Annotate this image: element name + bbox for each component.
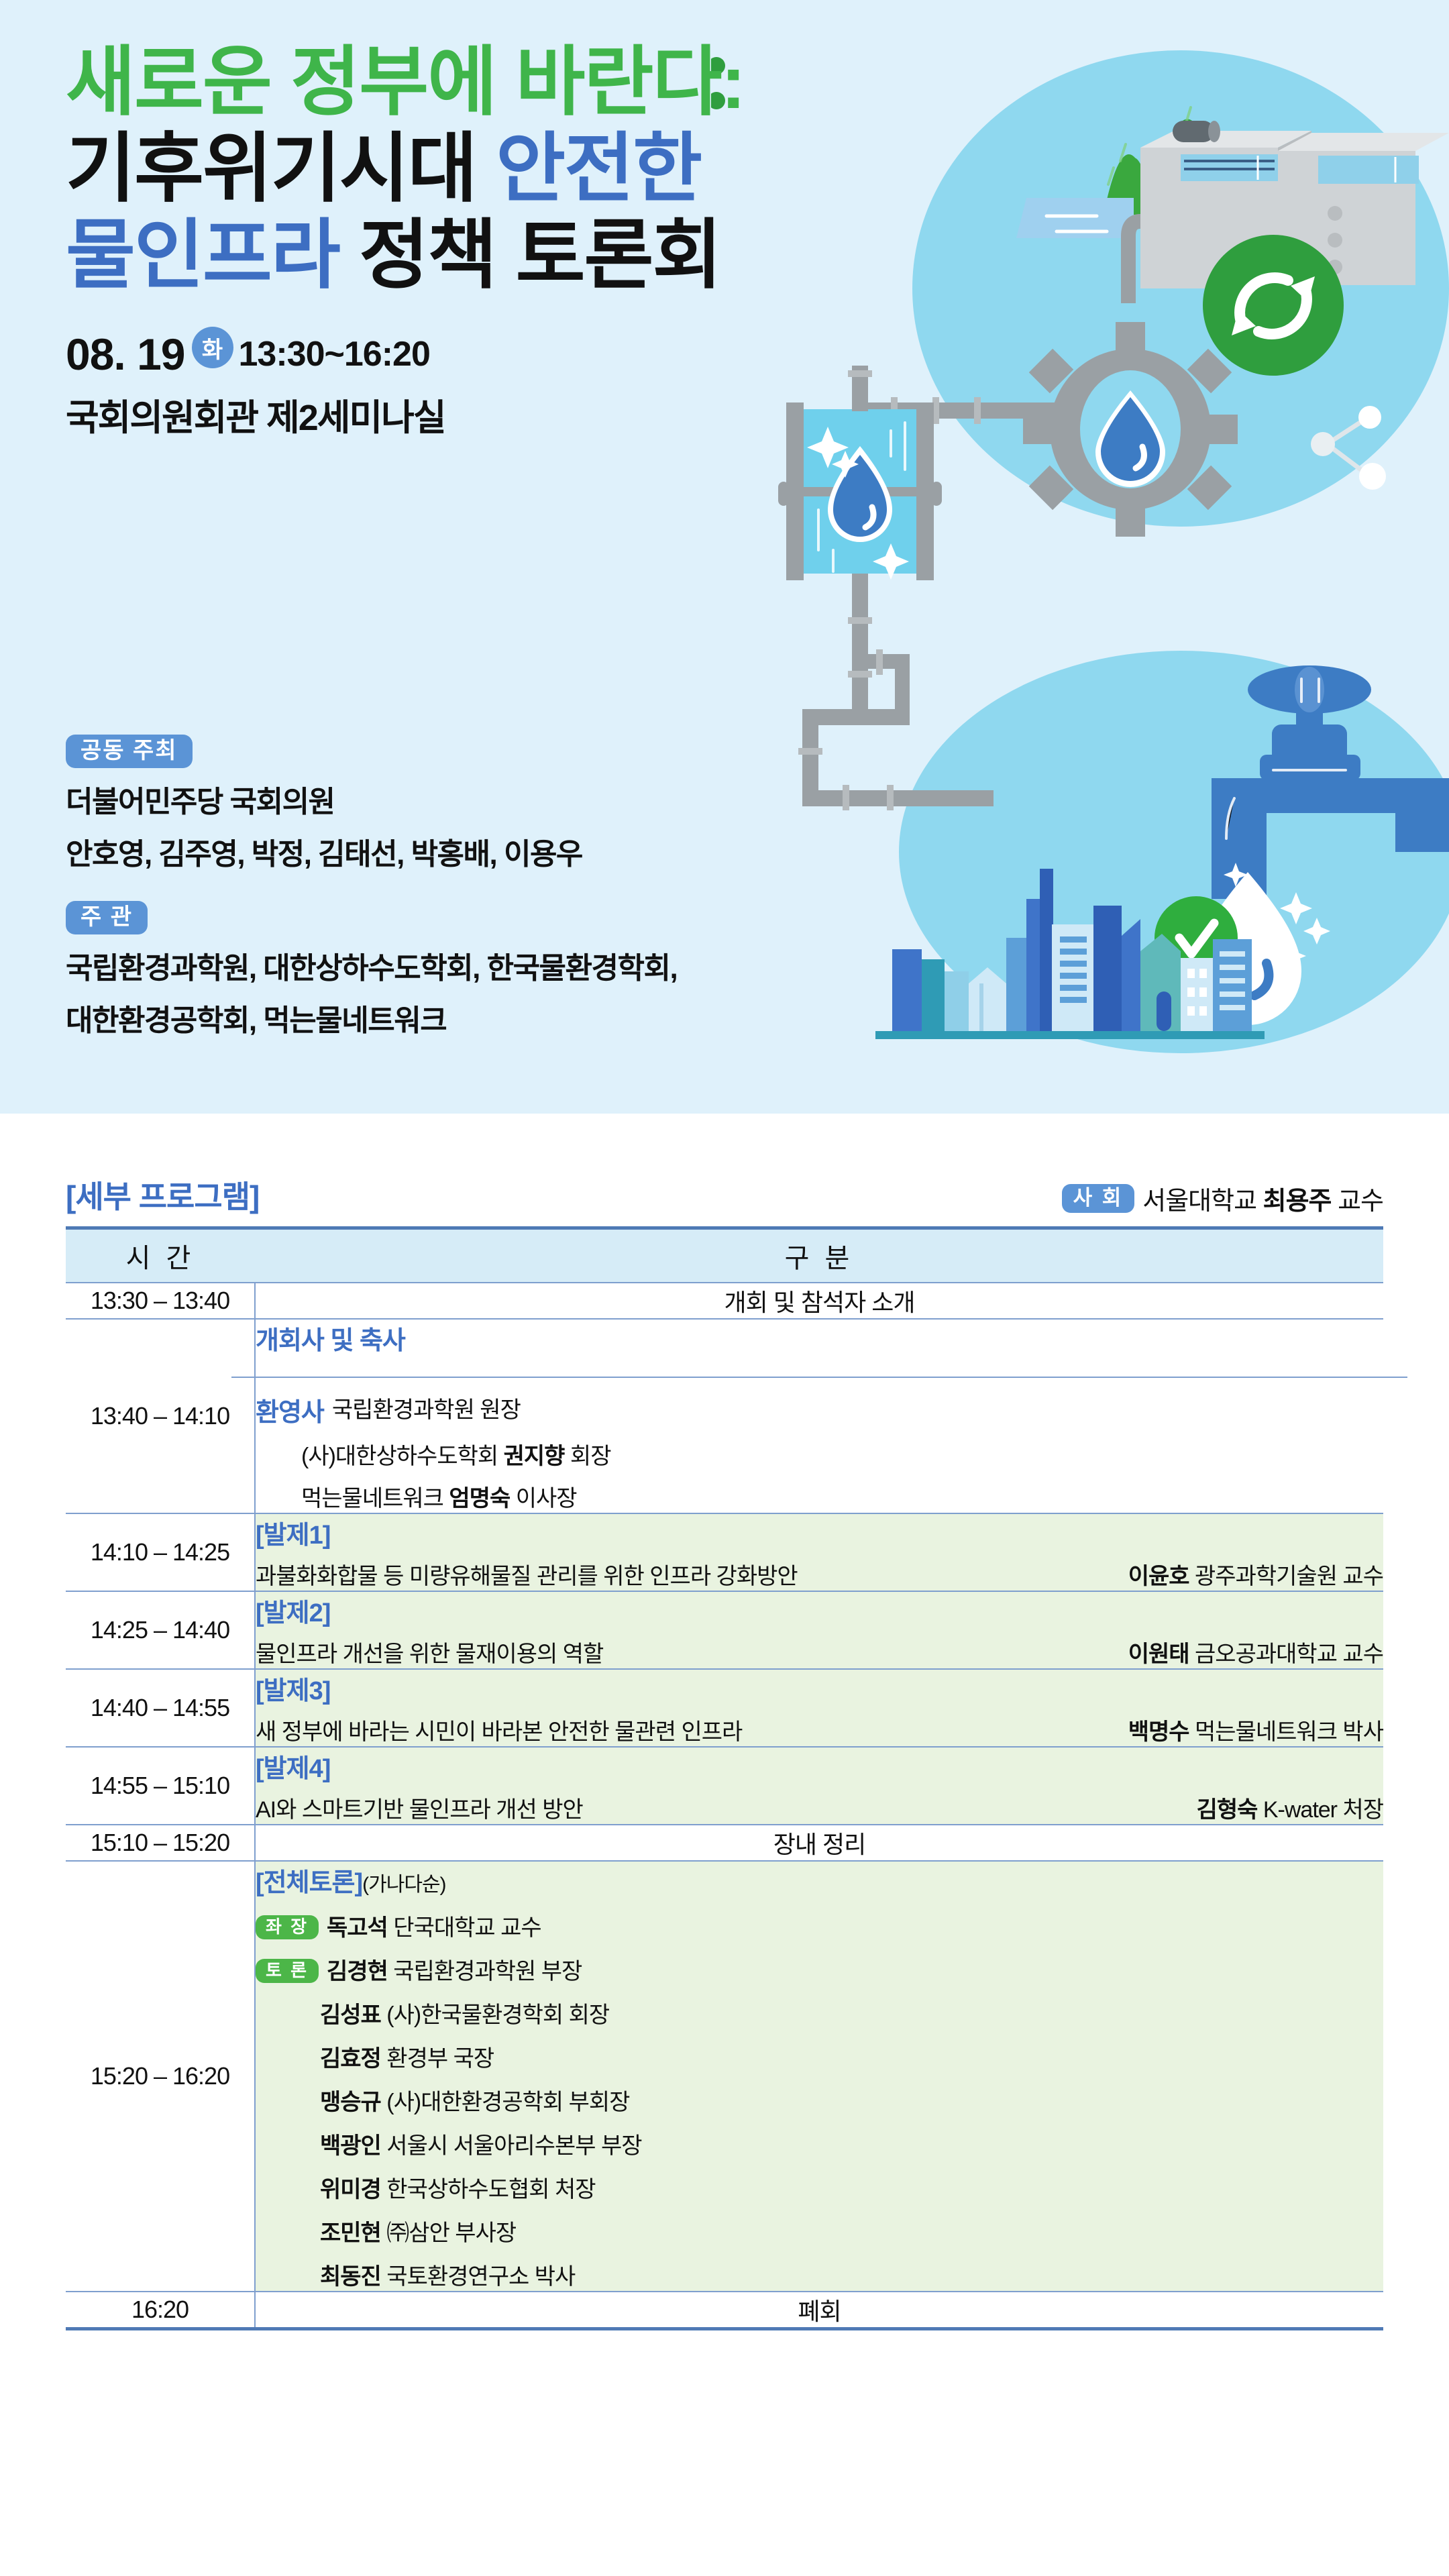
table-row: 14:10 – 14:25 [발제1] 과불화화합물 등 미량유해물질 관리를 … [66, 1513, 1383, 1591]
presentation-topic: 새 정부에 바라는 시민이 바라본 안전한 물관련 인프라 [256, 1713, 742, 1746]
table-row: 16:20 폐회 [66, 2292, 1383, 2329]
row-body: 개회사 및 축사 환영사국립환경과학원 원장 (사)대한상하수도학회 권지향 회… [255, 1319, 1383, 1513]
title-line-1: 새로운 정부에 바란다: [66, 39, 824, 125]
organizers-block: 공동 주최 더불어민주당 국회의원 안호영, 김주영, 박정, 김태선, 박홍배… [66, 735, 871, 1039]
chair-row: 좌 장독고석 단국대학교 교수 [256, 1909, 1383, 1942]
panelist-affiliation: 국립환경과학원 부장 [388, 1959, 582, 1984]
table-row: 14:40 – 14:55 [발제3] 새 정부에 바라는 시민이 바라본 안전… [66, 1669, 1383, 1747]
event-datetime: 08. 19 화 13:30~16:20 [66, 329, 824, 380]
presentation-topic: 과불화화합물 등 미량유해물질 관리를 위한 인프라 강화방안 [256, 1558, 798, 1591]
table-header-row: 시 간 구 분 [66, 1228, 1383, 1283]
welcome-2-org: (사)대한상하수도학회 [301, 1444, 504, 1469]
panelist-name: 최동진 [320, 2264, 381, 2290]
row-body: [발제2] 물인프라 개선을 위한 물재이용의 역할 이원태 금오공과대학교 교… [255, 1591, 1383, 1669]
presentation-speaker: 이윤호 광주과학기술원 교수 [1128, 1558, 1383, 1591]
title-line-2-black: 기후위기시대 [66, 126, 496, 211]
presentation-tag: [발제2] [256, 1592, 1383, 1629]
host-line-1: 국립환경과학원, 대한상하수도학회, 한국물환경학회, [66, 944, 871, 987]
event-venue: 국회의원회관 제2세미나실 [66, 388, 824, 441]
row-time: 13:30 – 13:40 [66, 1283, 255, 1319]
row-time: 14:40 – 14:55 [66, 1669, 255, 1747]
speaker-name: 백명수 [1128, 1719, 1189, 1745]
panelist-name: 백광인 [320, 2133, 381, 2159]
row-time: 14:25 – 14:40 [66, 1591, 255, 1669]
list-item: 조민현 ㈜삼안 부사장 [256, 2214, 1383, 2247]
opening-heading: 개회사 및 축사 [256, 1320, 1383, 1356]
row-time: 14:55 – 15:10 [66, 1747, 255, 1825]
row-body: [발제3] 새 정부에 바라는 시민이 바라본 안전한 물관련 인프라 백명수 … [255, 1669, 1383, 1747]
discussion-tag: [전체토론] [256, 1869, 362, 1897]
panelist-affiliation: 환경부 국장 [381, 2046, 494, 2072]
title-line-3-blue: 물인프라 [66, 213, 359, 297]
program-section: [세부 프로그램] 사 회 서울대학교 최용주 교수 시 간 구 분 13:30… [0, 1114, 1449, 2576]
presentation-tag: [발제1] [256, 1514, 1383, 1551]
panelist-name: 김성표 [320, 2002, 381, 2028]
presentation-speaker: 백명수 먹는물네트워크 박사 [1128, 1713, 1383, 1746]
column-header-time: 시 간 [66, 1228, 255, 1283]
cohost-badge: 공동 주최 [66, 735, 193, 768]
list-item: 김성표 (사)한국물환경학회 회장 [256, 1996, 1383, 2029]
welcome-label: 환영사 [256, 1391, 324, 1428]
list-item: 위미경 한국상하수도협회 처장 [256, 2171, 1383, 2204]
row-time: 15:10 – 15:20 [66, 1825, 255, 1861]
welcome-speaker-1: 국립환경과학원 원장 [332, 1391, 521, 1424]
speaker-name: 이윤호 [1128, 1564, 1189, 1589]
chair-name: 독고석 [327, 1915, 388, 1941]
moderator-org: 서울대학교 [1142, 1187, 1263, 1216]
panelist-name: 위미경 [320, 2177, 381, 2202]
moderator-text: 서울대학교 최용주 교수 [1142, 1180, 1383, 1217]
panelist-name: 김효정 [320, 2046, 381, 2072]
speaker-affiliation: K-water 처장 [1257, 1797, 1383, 1823]
panelist-affiliation: (사)대한환경공학회 부회장 [381, 2090, 630, 2115]
row-text: 장내 정리 [255, 1825, 1383, 1861]
row-body: [발제4] AI와 스마트기반 물인프라 개선 방안 김형숙 K-water 처… [255, 1747, 1383, 1825]
moderator-badge: 사 회 [1062, 1184, 1135, 1213]
welcome-3-name: 엄명숙 [449, 1486, 510, 1511]
speaker-name: 김형숙 [1197, 1797, 1258, 1823]
panelist-affiliation: (사)한국물환경학회 회장 [381, 2002, 609, 2028]
title-line-2-blue: 안전한 [496, 126, 701, 211]
table-row: 15:10 – 15:20 장내 정리 [66, 1825, 1383, 1861]
host-line-2: 대한환경공학회, 먹는물네트워크 [66, 996, 871, 1039]
presentation-topic: 물인프라 개선을 위한 물재이용의 역할 [256, 1635, 603, 1668]
moderator-name: 최용주 [1263, 1187, 1332, 1216]
program-title: [세부 프로그램] [66, 1173, 259, 1217]
panelist-affiliation: 국토환경연구소 박사 [381, 2264, 575, 2290]
row-text: 개회 및 참석자 소개 [255, 1283, 1383, 1319]
welcome-speaker-2: (사)대한상하수도학회 권지향 회장 [256, 1438, 1383, 1470]
chair-affiliation: 단국대학교 교수 [388, 1915, 541, 1941]
row-body: [발제1] 과불화화합물 등 미량유해물질 관리를 위한 인프라 강화방안 이윤… [255, 1513, 1383, 1591]
host-badge: 주 관 [66, 901, 148, 934]
presentation-speaker: 이원태 금오공과대학교 교수 [1128, 1635, 1383, 1668]
presentation-tag: [발제3] [256, 1670, 1383, 1707]
row-text: 폐회 [255, 2292, 1383, 2329]
table-row: 14:55 – 15:10 [발제4] AI와 스마트기반 물인프라 개선 방안… [66, 1747, 1383, 1825]
table-row: 13:30 – 13:40 개회 및 참석자 소개 [66, 1283, 1383, 1319]
event-time: 13:30~16:20 [239, 334, 430, 374]
welcome-2-role: 회장 [564, 1444, 610, 1469]
row-time: 15:20 – 16:20 [66, 1861, 255, 2292]
event-date: 08. 19 [66, 329, 185, 380]
cohost-line-1: 더불어민주당 국회의원 [66, 777, 871, 820]
discussion-heading: [전체토론](가나다순) [256, 1862, 1383, 1898]
row-time: 13:40 – 14:10 [66, 1319, 255, 1513]
speaker-name: 이원태 [1128, 1642, 1189, 1667]
list-item: 맹승규 (사)대한환경공학회 부회장 [256, 2084, 1383, 2116]
welcome-3-org: 먹는물네트워크 [301, 1486, 449, 1511]
speaker-affiliation: 먹는물네트워크 박사 [1189, 1719, 1383, 1745]
row-time: 16:20 [66, 2292, 255, 2329]
program-header: [세부 프로그램] 사 회 서울대학교 최용주 교수 [66, 1173, 1383, 1217]
title-line-3-black: 정책 토론회 [359, 213, 720, 297]
welcome-3-role: 이사장 [510, 1486, 576, 1511]
column-header-category: 구 분 [255, 1228, 1383, 1283]
moderator-block: 사 회 서울대학교 최용주 교수 [1062, 1180, 1383, 1217]
row-time: 14:10 – 14:25 [66, 1513, 255, 1591]
chair-badge: 좌 장 [256, 1915, 319, 1939]
welcome-speaker-3: 먹는물네트워크 엄명숙 이사장 [256, 1480, 1383, 1513]
cohost-line-2: 안호영, 김주영, 박정, 김태선, 박홍배, 이용우 [66, 830, 871, 873]
schedule-table: 시 간 구 분 13:30 – 13:40 개회 및 참석자 소개 13:40 … [66, 1226, 1383, 2330]
panelist-name: 맹승규 [320, 2090, 381, 2115]
weekday-chip: 화 [192, 327, 233, 368]
panel-badge: 토 론 [256, 1959, 319, 1983]
hero-text-block: 새로운 정부에 바란다: 기후위기시대 안전한 물인프라 정책 토론회 08. … [66, 39, 824, 441]
panelist-name: 김경현 [327, 1959, 388, 1984]
list-item: 최동진 국토환경연구소 박사 [256, 2258, 1383, 2291]
speaker-affiliation: 광주과학기술원 교수 [1189, 1564, 1383, 1589]
discussion-note: (가나다순) [362, 1874, 445, 1896]
table-row: 15:20 – 16:20 [전체토론](가나다순) 좌 장독고석 단국대학교 … [66, 1861, 1383, 2292]
welcome-2-name: 권지향 [504, 1444, 565, 1469]
list-item: 토 론김경현 국립환경과학원 부장 [256, 1953, 1383, 1986]
title-line-2: 기후위기시대 안전한 [66, 125, 824, 212]
speaker-affiliation: 금오공과대학교 교수 [1189, 1642, 1383, 1667]
panelist-name: 조민현 [320, 2220, 381, 2246]
title-line-3: 물인프라 정책 토론회 [66, 212, 824, 299]
presentation-topic: AI와 스마트기반 물인프라 개선 방안 [256, 1791, 583, 1824]
list-item: 김효정 환경부 국장 [256, 2040, 1383, 2073]
presentation-tag: [발제4] [256, 1748, 1383, 1784]
panelist-affiliation: 서울시 서울아리수본부 부장 [381, 2133, 642, 2159]
row-body: [전체토론](가나다순) 좌 장독고석 단국대학교 교수 토 론김경현 국립환경… [255, 1861, 1383, 2292]
panelist-affiliation: ㈜삼안 부사장 [381, 2220, 516, 2246]
panelist-affiliation: 한국상하수도협회 처장 [381, 2177, 596, 2202]
list-item: 백광인 서울시 서울아리수본부 부장 [256, 2127, 1383, 2160]
table-row: 14:25 – 14:40 [발제2] 물인프라 개선을 위한 물재이용의 역할… [66, 1591, 1383, 1669]
presentation-speaker: 김형숙 K-water 처장 [1197, 1791, 1383, 1824]
moderator-role: 교수 [1332, 1187, 1383, 1216]
table-row: 13:40 – 14:10 개회사 및 축사 환영사국립환경과학원 원장 (사)… [66, 1319, 1383, 1513]
hero-section: 새로운 정부에 바란다: 기후위기시대 안전한 물인프라 정책 토론회 08. … [0, 0, 1449, 1114]
